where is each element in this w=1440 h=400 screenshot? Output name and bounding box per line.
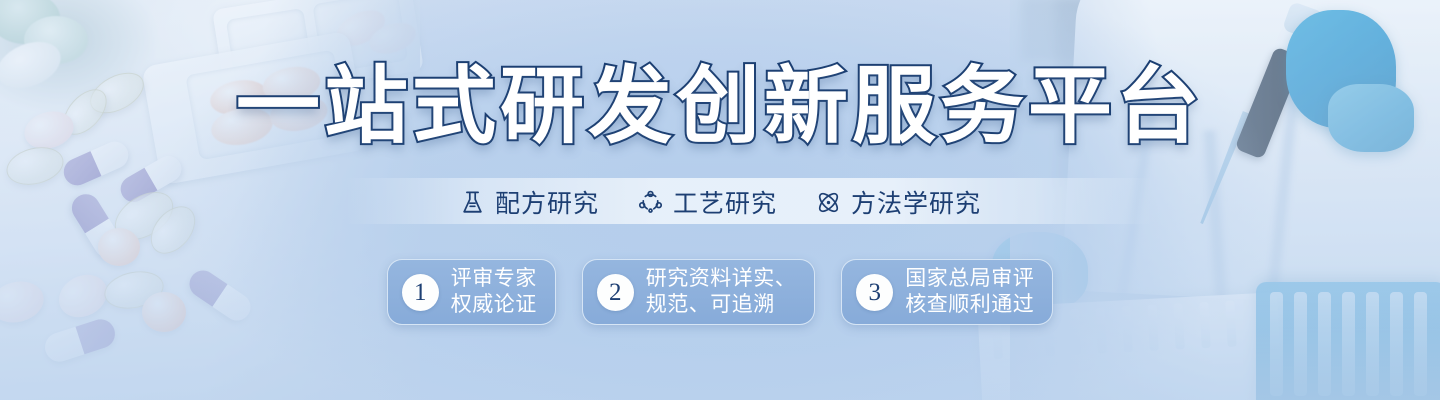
feature-text: 研究资料详实、 规范、可追溯 [646,267,797,318]
feature-text: 国家总局审评 核查顺利通过 [905,267,1034,318]
atom-icon [815,189,842,216]
feature-number: 1 [402,274,439,311]
service-label: 工艺研究 [673,184,777,220]
promo-banner: 一站式研发创新服务平台 配方研究 [0,0,1440,400]
feature-card-list: 1 评审专家 权威论证 2 研究资料详实、 规范、可追溯 3 国家总局审评 核查… [0,259,1440,325]
feature-number: 2 [597,274,634,311]
service-label: 配方研究 [495,184,599,220]
service-item-methodology[interactable]: 方法学研究 [815,184,981,220]
feature-line-1: 国家总局审评 [905,267,1034,292]
feature-line-2: 规范、可追溯 [646,293,797,318]
feature-number: 3 [856,274,893,311]
feature-line-2: 核查顺利通过 [905,293,1034,318]
service-item-process[interactable]: 工艺研究 [637,184,777,220]
feature-card-3[interactable]: 3 国家总局审评 核查顺利通过 [841,259,1053,325]
feature-line-1: 研究资料详实、 [646,267,797,292]
feature-text: 评审专家 权威论证 [451,267,537,318]
service-label: 方法学研究 [851,184,981,220]
flask-icon [459,189,486,216]
molecule-icon [637,189,664,216]
page-title: 一站式研发创新服务平台 [0,64,1440,148]
feature-line-2: 权威论证 [451,293,537,318]
service-item-formulation[interactable]: 配方研究 [459,184,599,220]
feature-line-1: 评审专家 [451,267,537,292]
service-list: 配方研究 工艺研究 [0,184,1440,220]
feature-card-1[interactable]: 1 评审专家 权威论证 [387,259,556,325]
feature-card-2[interactable]: 2 研究资料详实、 规范、可追溯 [582,259,816,325]
